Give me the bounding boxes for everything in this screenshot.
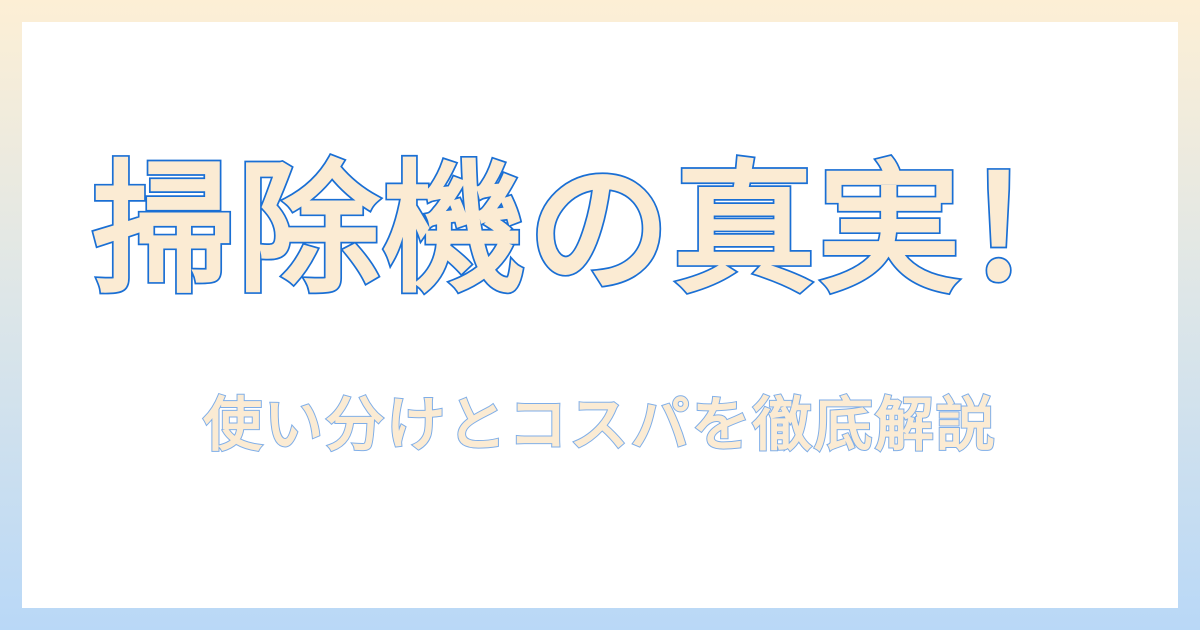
page-subtitle: 使い分けとコスパを徹底解説 (203, 390, 997, 461)
title-block: 掃除機の真実！ (22, 150, 1178, 310)
poster-card: 掃除機の真実！ 使い分けとコスパを徹底解説 (22, 22, 1178, 608)
page-title: 掃除機の真実！ (92, 150, 1108, 310)
subtitle-block: 使い分けとコスパを徹底解説 (22, 390, 1178, 461)
poster-frame: 掃除機の真実！ 使い分けとコスパを徹底解説 (0, 0, 1200, 630)
